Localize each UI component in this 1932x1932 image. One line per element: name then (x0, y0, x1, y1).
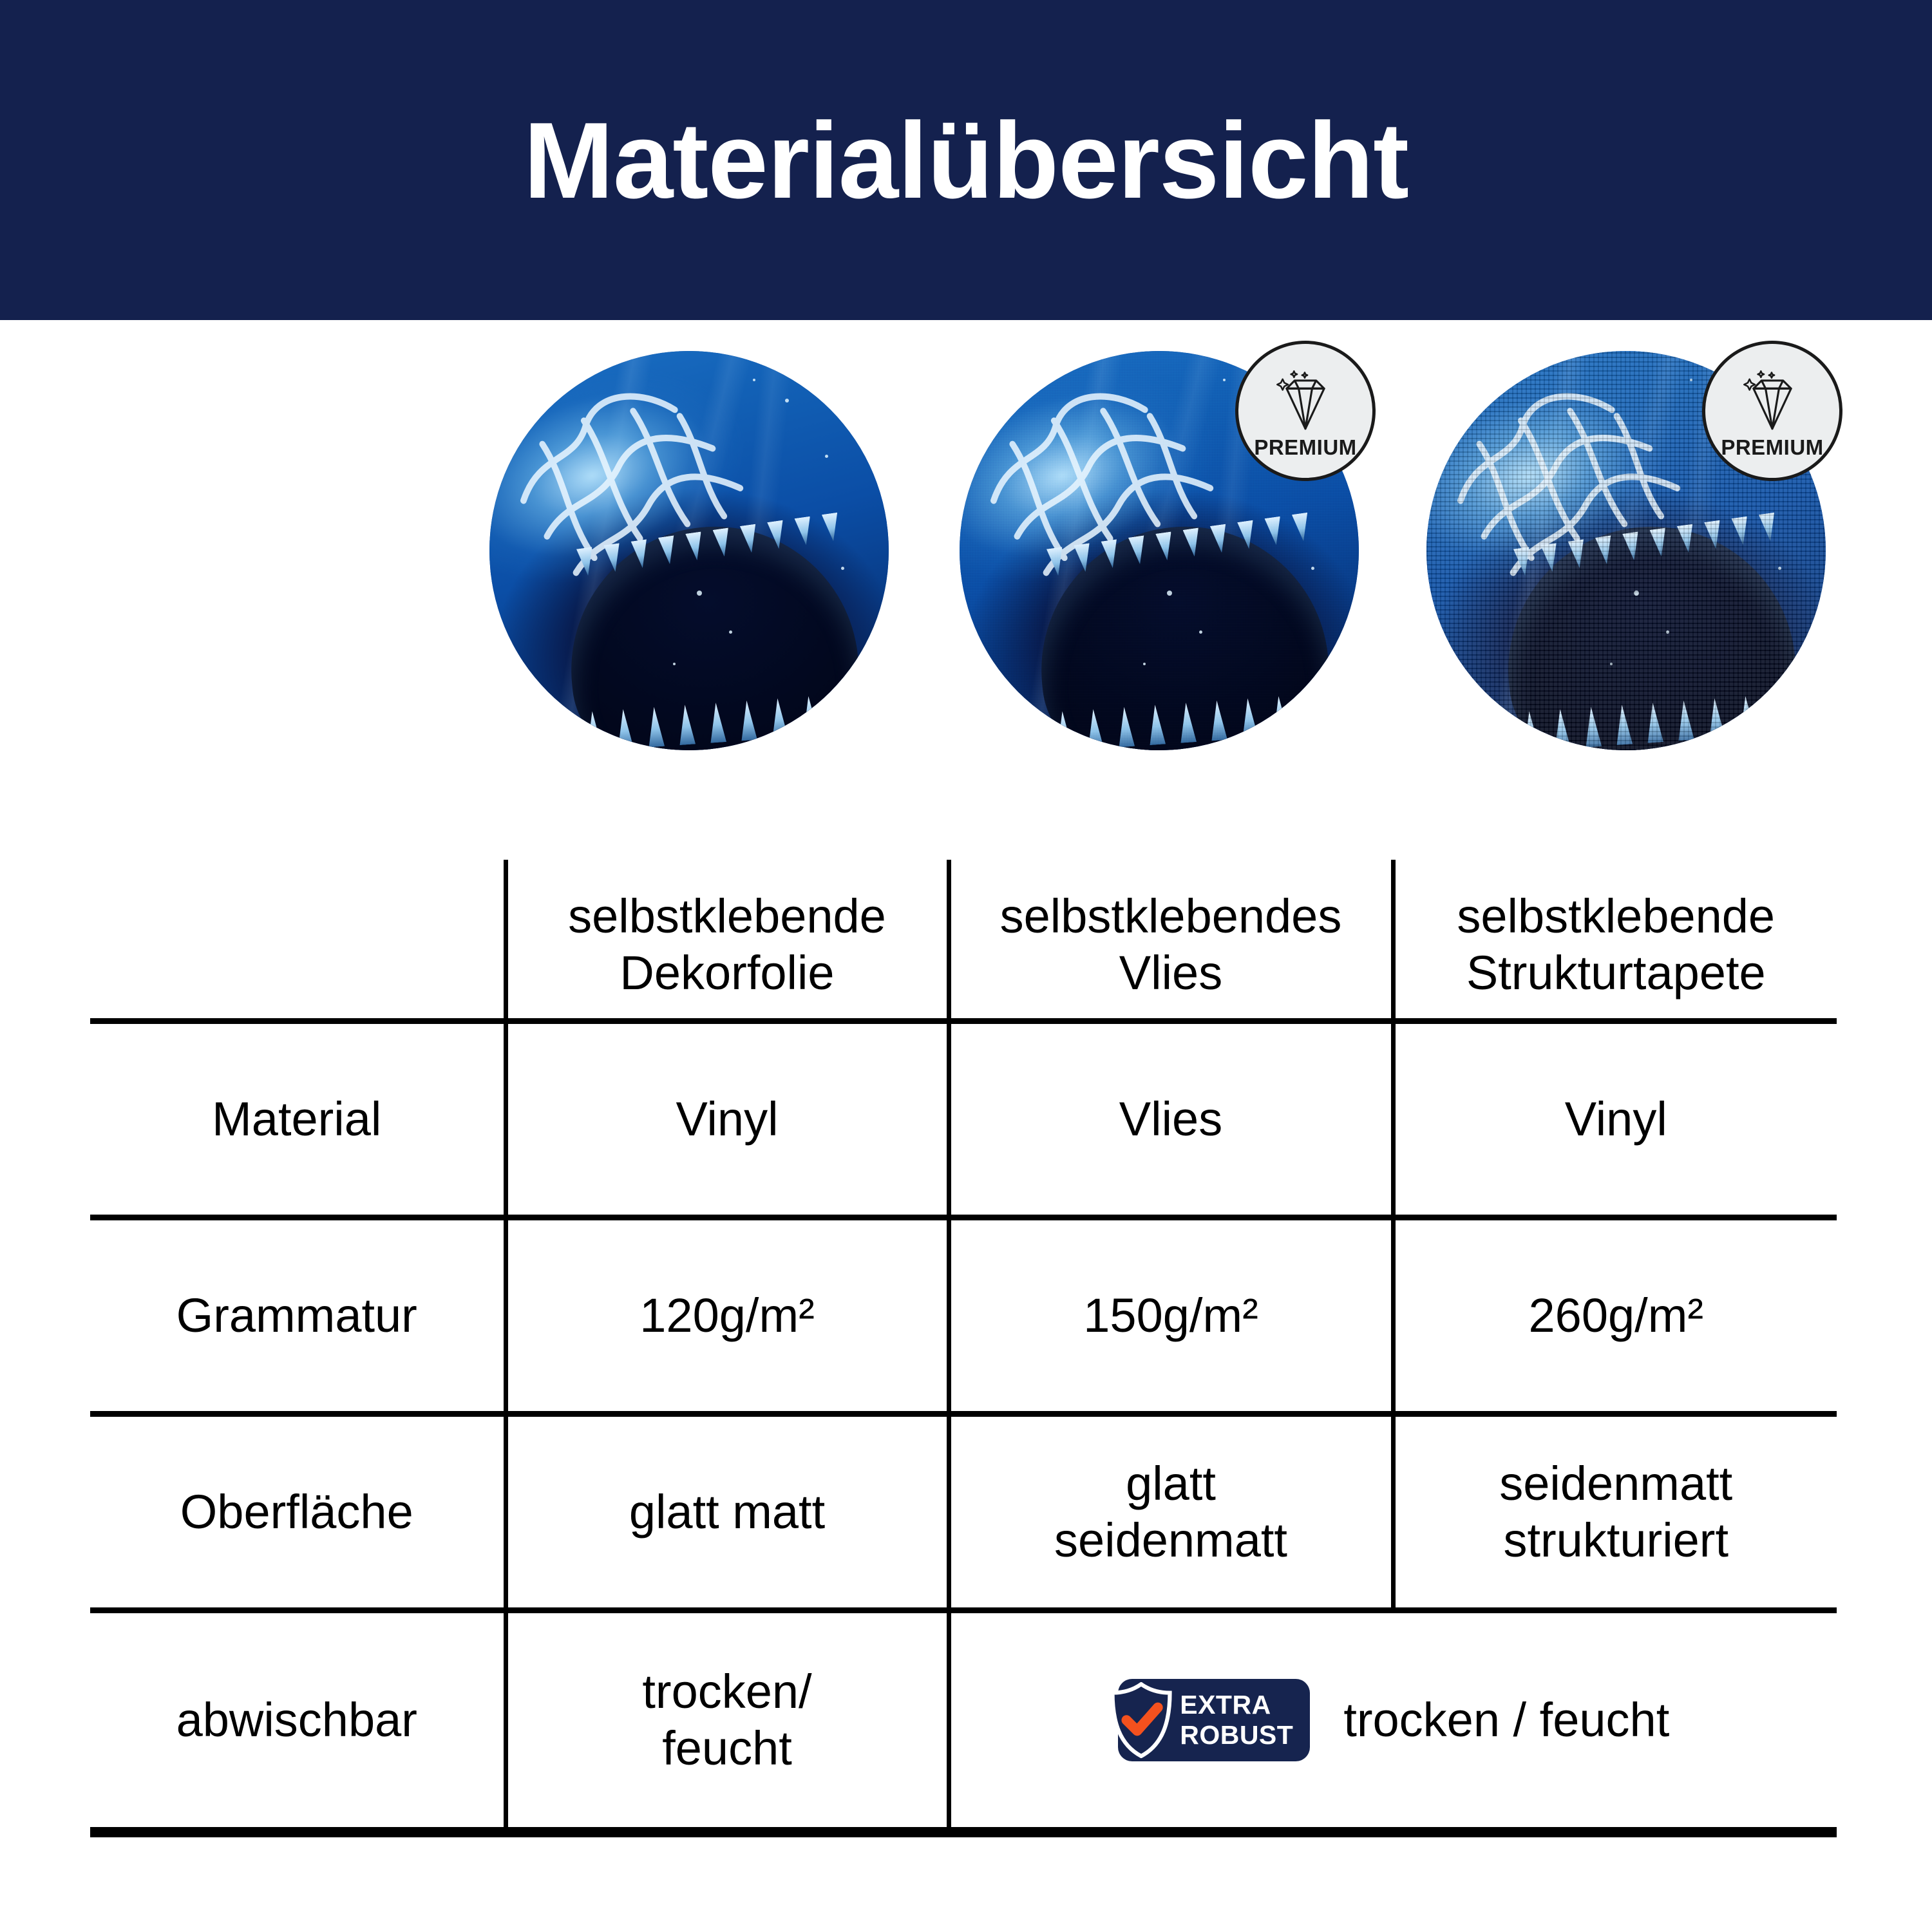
product-preview-vlies[interactable]: PREMIUM (960, 351, 1359, 750)
cell-oberflaeche-dekorfolie: glatt matt (506, 1414, 949, 1610)
table-row-grammatur: Grammatur 120g/m² 150g/m² 260g/m² (90, 1217, 1837, 1414)
product-preview-dekorfolie[interactable] (489, 351, 889, 750)
oberflaeche-strukturtapete-line1: seidenmatt (1405, 1455, 1828, 1511)
row-label-abwischbar: abwischbar (90, 1610, 506, 1832)
premium-badge-label: PREMIUM (1254, 435, 1356, 460)
shark-image-dekorfolie (489, 351, 889, 750)
header-dekorfolie-line1: selbstklebende (517, 888, 938, 944)
abwischbar-dekorfolie-line2: feucht (517, 1720, 938, 1776)
header-strukturtapete-line1: selbstklebende (1405, 888, 1828, 944)
premium-badge: PREMIUM (1235, 341, 1376, 481)
bubbles (489, 351, 889, 750)
row-label-material: Material (90, 1021, 506, 1217)
table-header-row: selbstklebende Dekorfolie selbstklebende… (90, 860, 1837, 1021)
cell-oberflaeche-strukturtapete: seidenmatt strukturiert (1393, 1414, 1837, 1610)
oberflaeche-strukturtapete-line2: strukturiert (1405, 1512, 1828, 1568)
cell-grammatur-dekorfolie: 120g/m² (506, 1217, 949, 1414)
diamond-icon (1738, 366, 1806, 433)
material-comparison-table: selbstklebende Dekorfolie selbstklebende… (90, 860, 1837, 1837)
table-row-material: Material Vinyl Vlies Vinyl (90, 1021, 1837, 1217)
header-cell-vlies: selbstklebendes Vlies (949, 860, 1393, 1021)
header-dekorfolie-line2: Dekorfolie (517, 945, 938, 1001)
header-vlies-line2: Vlies (960, 945, 1382, 1001)
extra-robust-badge: EXTRA ROBUST (1118, 1679, 1310, 1761)
table-row-abwischbar: abwischbar trocken/ feucht EXTRA (90, 1610, 1837, 1832)
oberflaeche-vlies-line2: seidenmatt (960, 1512, 1382, 1568)
table-row-oberflaeche: Oberfläche glatt matt glatt seidenmatt s… (90, 1414, 1837, 1610)
row-label-oberflaeche: Oberfläche (90, 1414, 506, 1610)
product-preview-strukturtapete[interactable]: PREMIUM (1426, 351, 1826, 750)
product-previews: PREMIUM (0, 351, 1932, 763)
cell-material-vlies: Vlies (949, 1021, 1393, 1217)
page-header: Materialübersicht (0, 0, 1932, 320)
robust-badge-line2: ROBUST (1180, 1722, 1293, 1748)
cell-abwischbar-dekorfolie: trocken/ feucht (506, 1610, 949, 1832)
abwischbar-dekorfolie-line1: trocken/ (517, 1663, 938, 1719)
abwischbar-merged-text: trocken / feucht (1343, 1692, 1669, 1748)
oberflaeche-vlies-line1: glatt (960, 1455, 1382, 1511)
header-strukturtapete-line2: Strukturtapete (1405, 945, 1828, 1001)
cell-abwischbar-merged: EXTRA ROBUST trocken / feucht (949, 1610, 1837, 1832)
premium-badge: PREMIUM (1702, 341, 1842, 481)
premium-badge-label: PREMIUM (1721, 435, 1823, 460)
cell-grammatur-strukturtapete: 260g/m² (1393, 1217, 1837, 1414)
row-label-grammatur: Grammatur (90, 1217, 506, 1414)
diamond-icon (1271, 366, 1340, 433)
robust-badge-line1: EXTRA (1180, 1692, 1271, 1718)
cell-grammatur-vlies: 150g/m² (949, 1217, 1393, 1414)
cell-oberflaeche-vlies: glatt seidenmatt (949, 1414, 1393, 1610)
shield-check-icon (1108, 1682, 1175, 1758)
page-title: Materialübersicht (524, 106, 1408, 214)
header-cell-empty (90, 860, 506, 1021)
cell-material-strukturtapete: Vinyl (1393, 1021, 1837, 1217)
header-vlies-line1: selbstklebendes (960, 888, 1382, 944)
cell-material-dekorfolie: Vinyl (506, 1021, 949, 1217)
header-cell-strukturtapete: selbstklebende Strukturtapete (1393, 860, 1837, 1021)
header-cell-dekorfolie: selbstklebende Dekorfolie (506, 860, 949, 1021)
